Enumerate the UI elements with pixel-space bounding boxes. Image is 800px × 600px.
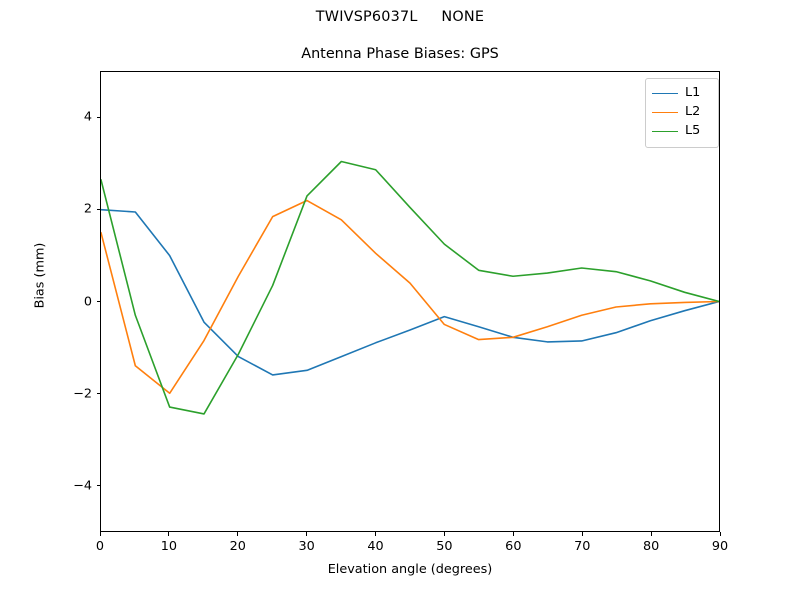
legend-swatch-l1 — [652, 93, 678, 94]
y-axis-label: Bias (mm) — [33, 176, 48, 376]
legend-item-l1: L1 — [652, 84, 712, 103]
x-tick-label: 80 — [643, 539, 659, 554]
x-tick-mark — [100, 532, 101, 536]
y-tick-label: 2 — [58, 202, 92, 217]
x-tick-label: 20 — [230, 539, 246, 554]
legend-swatch-l2 — [652, 112, 678, 113]
x-tick-label: 40 — [367, 539, 383, 554]
legend-item-l2: L2 — [652, 103, 712, 122]
x-tick-label: 90 — [712, 539, 728, 554]
x-tick-mark — [444, 532, 445, 536]
plot-lines — [101, 72, 719, 531]
x-tick-mark — [582, 532, 583, 536]
x-tick-mark — [513, 532, 514, 536]
series-line-l5 — [101, 162, 719, 414]
x-tick-label: 70 — [574, 539, 590, 554]
y-tick-mark — [97, 393, 101, 394]
x-tick-mark — [237, 532, 238, 536]
plot-area — [100, 71, 720, 532]
y-tick-label: −2 — [58, 386, 92, 401]
x-tick-mark — [306, 532, 307, 536]
x-axis-label: Elevation angle (degrees) — [100, 562, 720, 577]
y-tick-mark — [97, 117, 101, 118]
x-tick-label: 10 — [161, 539, 177, 554]
y-tick-mark — [97, 209, 101, 210]
legend-swatch-l5 — [652, 131, 678, 132]
legend-label: L5 — [685, 125, 700, 138]
y-tick-label: 4 — [58, 110, 92, 125]
axes-title: Antenna Phase Biases: GPS — [0, 46, 800, 62]
x-tick-mark — [720, 532, 721, 536]
legend-item-l5: L5 — [652, 122, 712, 141]
x-tick-mark — [168, 532, 169, 536]
figure-suptitle: TWIVSP6037L NONE — [0, 9, 800, 25]
x-tick-label: 60 — [505, 539, 521, 554]
y-tick-label: −4 — [58, 478, 92, 493]
legend-label: L2 — [685, 106, 700, 119]
y-tick-mark — [97, 301, 101, 302]
series-line-l2 — [101, 201, 719, 394]
y-tick-label: 0 — [58, 294, 92, 309]
legend-label: L1 — [685, 87, 700, 100]
series-line-l1 — [101, 210, 719, 375]
y-tick-mark — [97, 485, 101, 486]
x-tick-mark — [651, 532, 652, 536]
matplotlib-figure: TWIVSP6037L NONE Antenna Phase Biases: G… — [0, 0, 800, 600]
x-tick-label: 50 — [436, 539, 452, 554]
x-tick-label: 30 — [299, 539, 315, 554]
legend: L1L2L5 — [645, 78, 719, 148]
x-tick-mark — [375, 532, 376, 536]
x-tick-label: 0 — [96, 539, 104, 554]
